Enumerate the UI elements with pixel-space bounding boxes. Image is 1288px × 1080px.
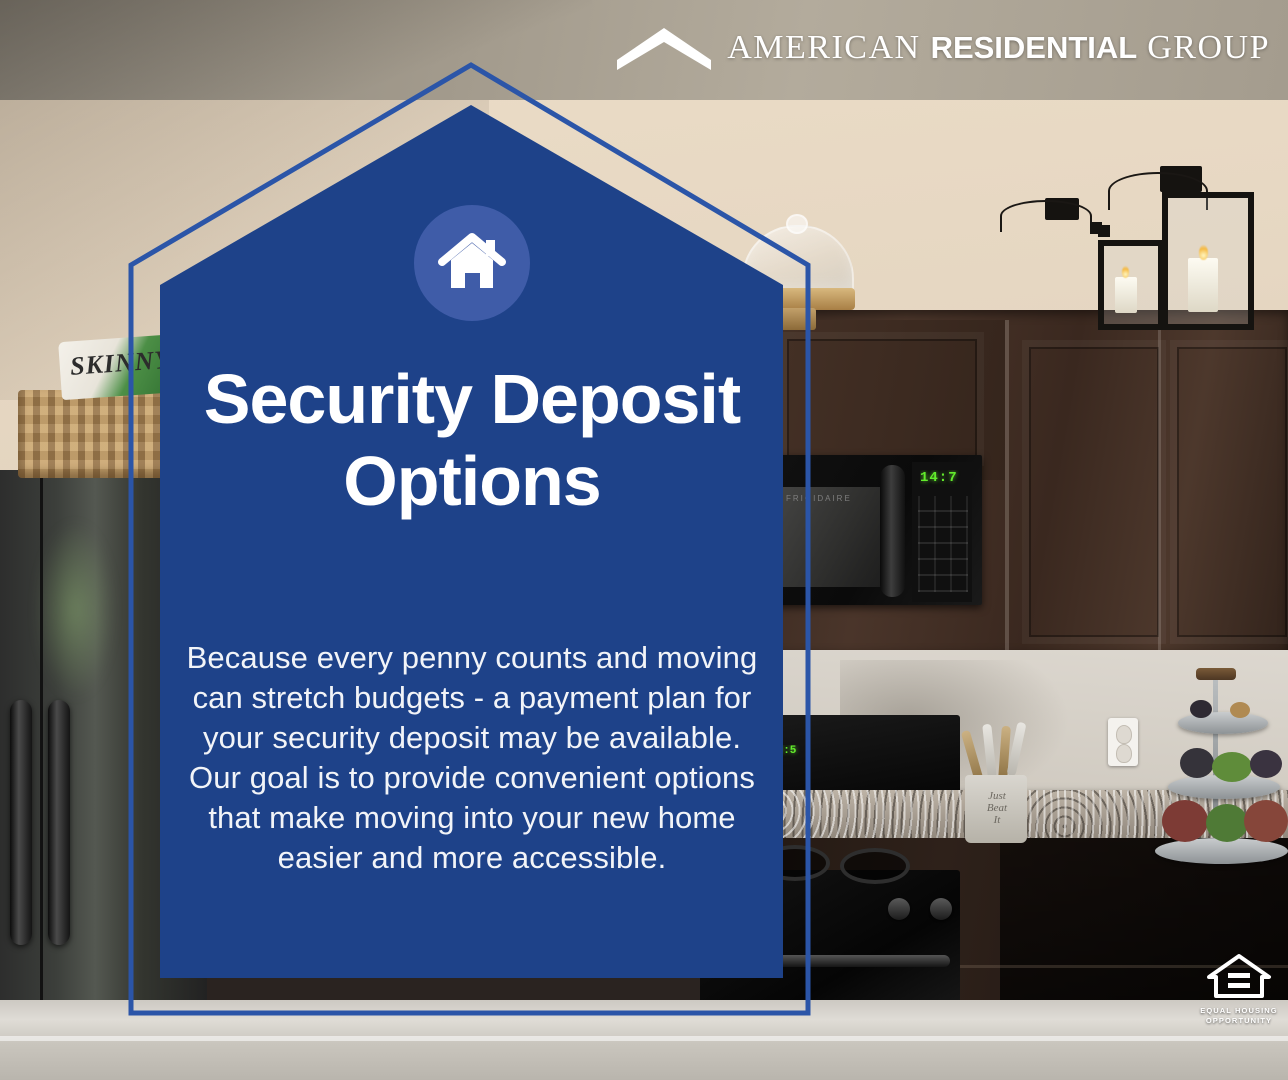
equal-housing-opportunity-text: EQUAL HOUSING OPPORTUNITY	[1198, 1006, 1280, 1025]
brand-name: AMERICAN RESIDENTIAL GROUP	[727, 29, 1270, 67]
brand-name-part2: RESIDENTIAL	[931, 30, 1138, 65]
brand-logo: AMERICAN RESIDENTIAL GROUP	[615, 26, 1270, 70]
brand-name-part3: GROUP	[1147, 29, 1270, 66]
marketing-graphic: SKINNY 14:7 FRIGIDAIRE	[0, 0, 1288, 1080]
brand-name-part1: AMERICAN	[727, 29, 920, 66]
body-paragraph: Because every penny counts and moving ca…	[182, 638, 762, 878]
eho-line-2: OPPORTUNITY	[1206, 1016, 1272, 1025]
home-icon-badge	[414, 205, 530, 321]
chevron-roof-mark-icon	[615, 26, 713, 70]
hero-content: Security Deposit Options Because every p…	[160, 105, 784, 980]
page-title: Security Deposit Options	[160, 358, 784, 522]
equal-housing-opportunity-logo: EQUAL HOUSING OPPORTUNITY	[1198, 953, 1280, 1025]
equal-housing-opportunity-icon	[1206, 953, 1272, 999]
home-icon	[438, 232, 506, 294]
eho-line-1: EQUAL HOUSING	[1200, 1006, 1278, 1015]
